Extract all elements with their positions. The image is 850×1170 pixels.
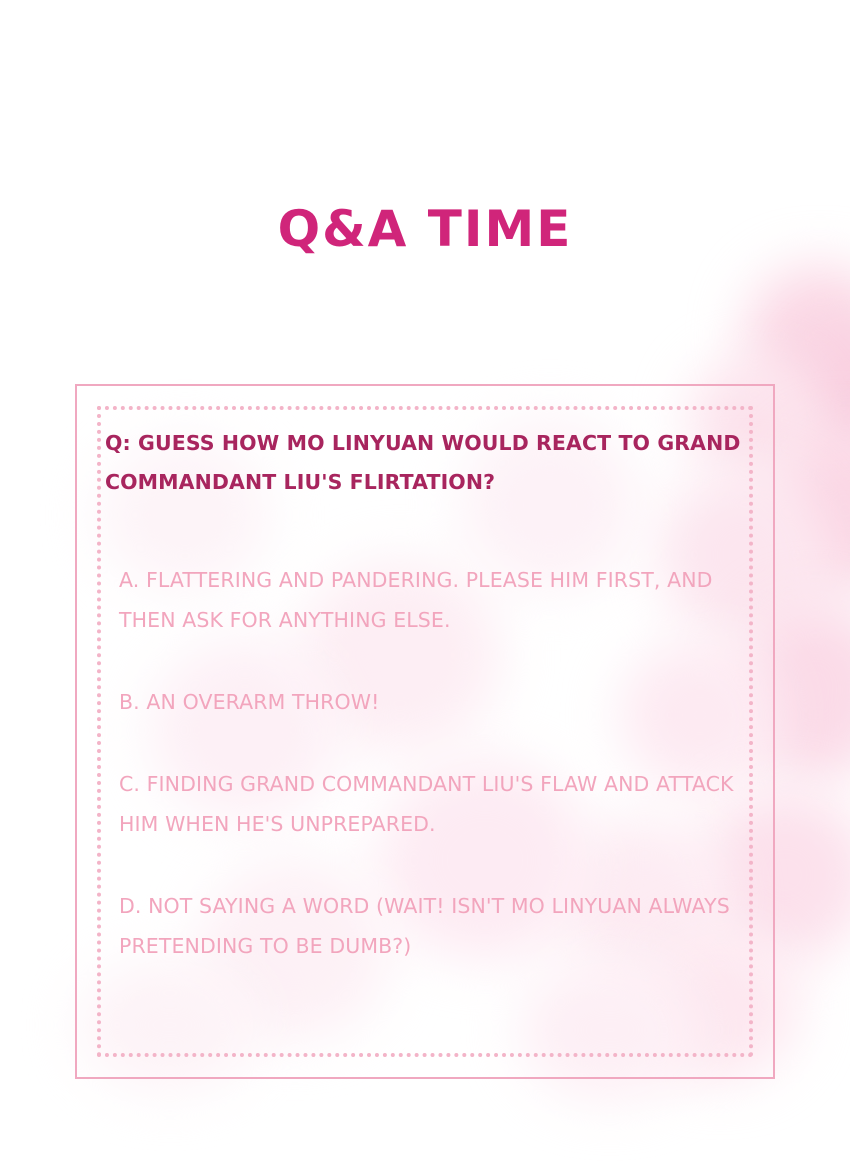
answer-option-a[interactable]: A. FLATTERING AND PANDERING. PLEASE HIM …: [119, 561, 765, 641]
page-title-container: Q&A TIME: [0, 204, 850, 254]
answer-option-b[interactable]: B. AN OVERARM THROW!: [119, 683, 765, 723]
question-text: Q: GUESS HOW MO LINYUAN WOULD REACT TO G…: [105, 424, 765, 503]
quiz-panel: Q: GUESS HOW MO LINYUAN WOULD REACT TO G…: [75, 384, 775, 1079]
answer-option-d[interactable]: D. NOT SAYING A WORD (WAIT! ISN'T MO LIN…: [119, 887, 765, 967]
quiz-content: Q: GUESS HOW MO LINYUAN WOULD REACT TO G…: [105, 424, 765, 967]
answer-option-c[interactable]: C. FINDING GRAND COMMANDANT LIU'S FLAW A…: [119, 765, 765, 845]
page-title: Q&A TIME: [278, 204, 573, 254]
